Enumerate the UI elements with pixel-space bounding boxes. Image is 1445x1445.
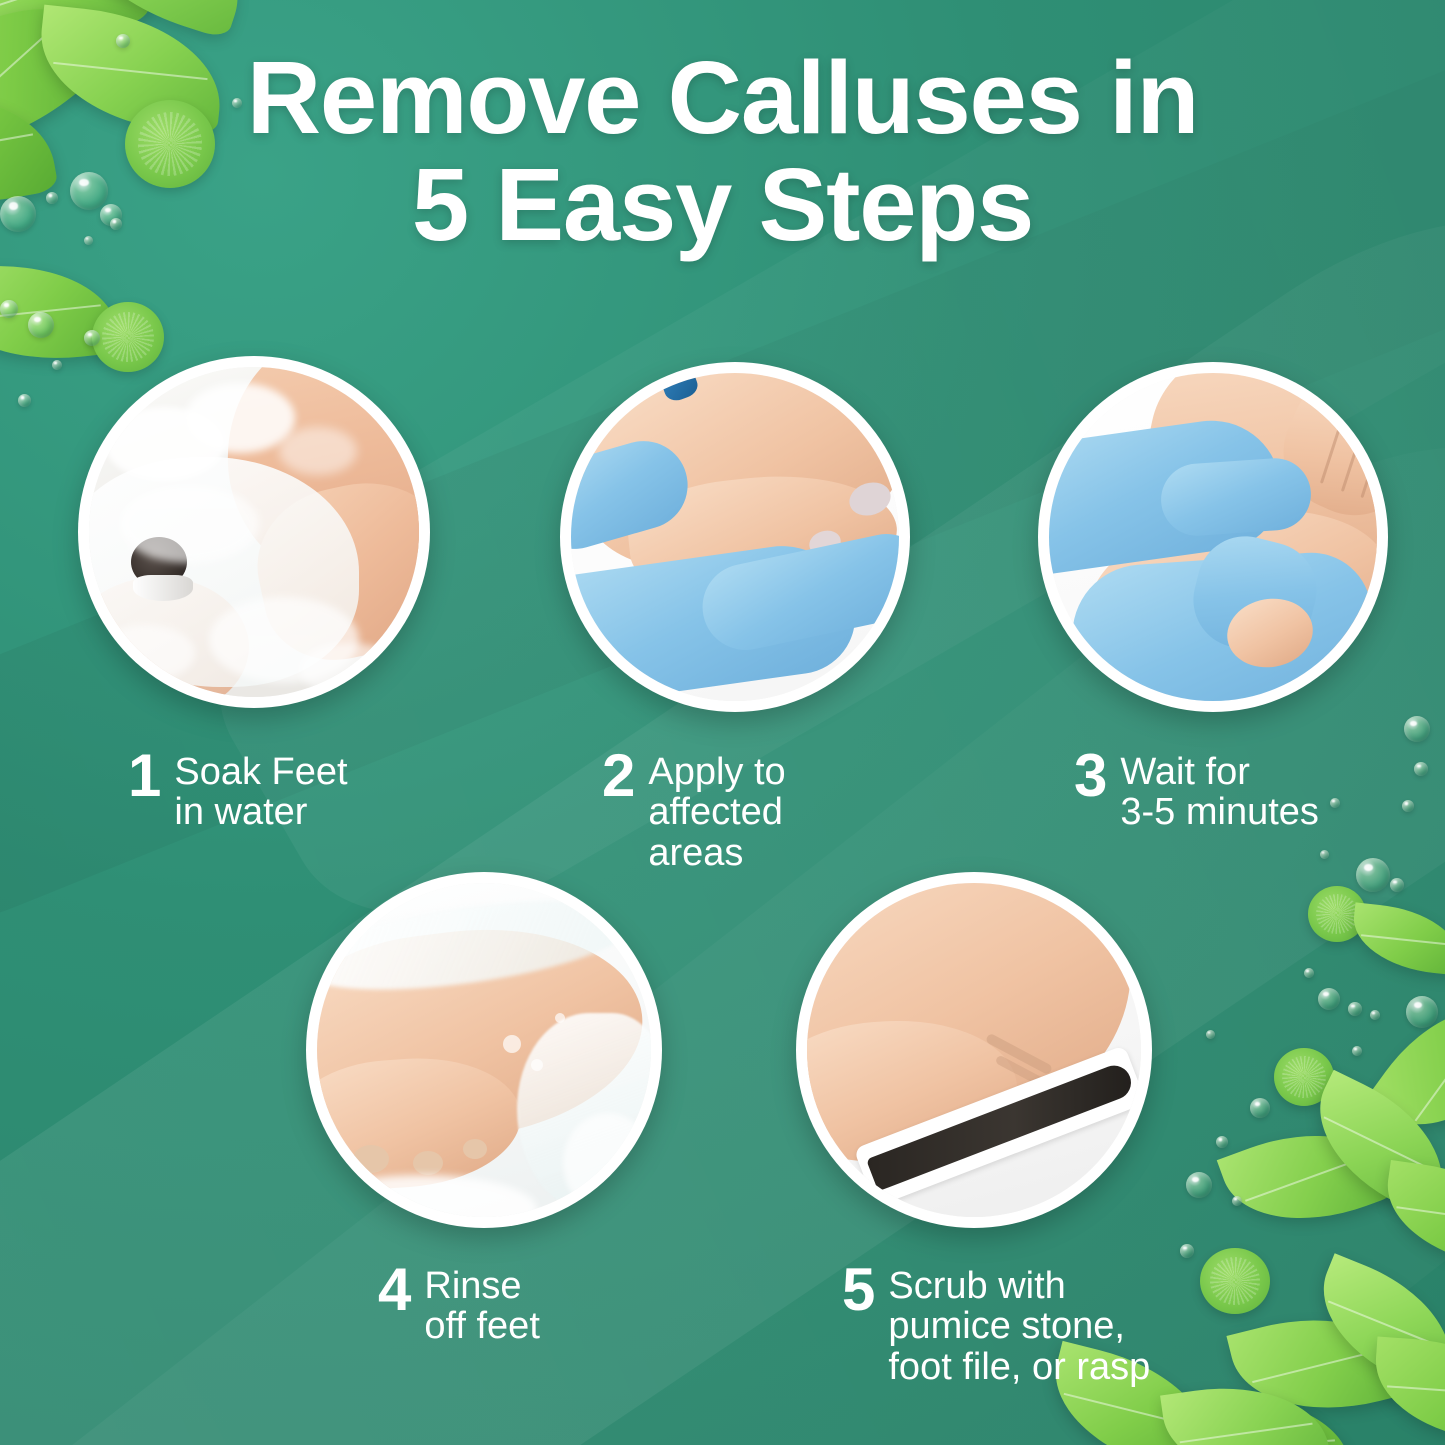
water-bubble <box>531 1059 543 1071</box>
water-foam <box>185 383 295 453</box>
step-2-photo[interactable] <box>560 362 910 712</box>
scene-foot-being-rinsed <box>317 883 651 1217</box>
step-5-number: 5 <box>842 1262 874 1317</box>
gloved-thumb <box>1159 456 1314 538</box>
water-droplet <box>1406 996 1438 1028</box>
water-droplet <box>0 300 18 318</box>
water-droplet <box>52 360 62 370</box>
water-droplet <box>18 394 31 407</box>
step-5-label: 5 Scrub with pumice stone, foot file, or… <box>842 1262 1182 1387</box>
leaf-vein <box>1361 934 1445 945</box>
step-2-photo-inner <box>571 373 899 701</box>
step-5-text: Scrub with pumice stone, foot file, or r… <box>888 1262 1150 1387</box>
water-bubble <box>555 1013 565 1023</box>
water-foam <box>299 643 399 695</box>
water-foam <box>317 1175 537 1217</box>
water-droplet <box>28 312 54 338</box>
water-droplet <box>1304 968 1314 978</box>
step-1-number: 1 <box>128 748 160 803</box>
toenail <box>463 1139 487 1159</box>
scene-heel-with-foot-file <box>807 883 1141 1217</box>
water-droplet <box>1352 1046 1362 1056</box>
water-droplet <box>1250 1098 1270 1118</box>
scene-gloved-hands-applying-to-foot <box>571 373 899 701</box>
step-2-label: 2 Apply to affected areas <box>602 748 902 873</box>
step-3-number: 3 <box>1074 748 1106 803</box>
water-droplet <box>1206 1030 1215 1039</box>
scene-feet-soaking-in-water <box>89 367 419 697</box>
step-4-photo-inner <box>317 883 651 1217</box>
water-foam <box>279 427 357 475</box>
step-2-number: 2 <box>602 748 634 803</box>
step-2-text: Apply to affected areas <box>648 748 785 873</box>
step-4-label: 4 Rinse off feet <box>378 1262 658 1347</box>
water-droplet <box>1216 1136 1228 1148</box>
water-droplet <box>1414 762 1428 776</box>
toenail <box>353 1145 389 1173</box>
water-droplet <box>1232 1196 1242 1206</box>
step-3-label: 3 Wait for 3-5 minutes <box>1074 748 1404 833</box>
step-1-text: Soak Feet in water <box>174 748 347 833</box>
water-droplet <box>1356 858 1390 892</box>
sponge-strap <box>133 575 193 601</box>
water-droplet <box>84 330 100 346</box>
step-5-photo[interactable] <box>796 872 1152 1228</box>
step-4-number: 4 <box>378 1262 410 1317</box>
water-foam <box>99 625 195 681</box>
step-1-photo-inner <box>89 367 419 697</box>
infographic-poster: Remove Calluses in 5 Easy Steps <box>0 0 1445 1445</box>
step-4-photo[interactable] <box>306 872 662 1228</box>
water-droplet <box>1390 878 1404 892</box>
step-1-photo[interactable] <box>78 356 430 708</box>
water-droplet <box>1320 850 1329 859</box>
water-foam <box>563 1113 651 1213</box>
water-droplet <box>1404 716 1430 742</box>
step-3-photo[interactable] <box>1038 362 1388 712</box>
water-droplet <box>1186 1172 1212 1198</box>
step-3-text: Wait for 3-5 minutes <box>1120 748 1319 833</box>
step-5-photo-inner <box>807 883 1141 1217</box>
water-droplet <box>1370 1010 1380 1020</box>
water-droplet <box>1348 1002 1362 1016</box>
step-1-label: 1 Soak Feet in water <box>128 748 428 833</box>
title-line-2: 5 Easy Steps <box>0 155 1445 255</box>
poster-title: Remove Calluses in 5 Easy Steps <box>0 48 1445 255</box>
water-droplet <box>116 34 130 48</box>
title-line-1: Remove Calluses in <box>0 48 1445 148</box>
toenail <box>413 1151 443 1175</box>
water-bubble <box>503 1035 521 1053</box>
step-3-photo-inner <box>1049 373 1377 701</box>
scene-gloved-hands-holding-foot <box>1049 373 1377 701</box>
water-droplet <box>1180 1244 1194 1258</box>
step-4-text: Rinse off feet <box>424 1262 540 1347</box>
water-foam <box>119 485 259 563</box>
water-droplet <box>1318 988 1340 1010</box>
